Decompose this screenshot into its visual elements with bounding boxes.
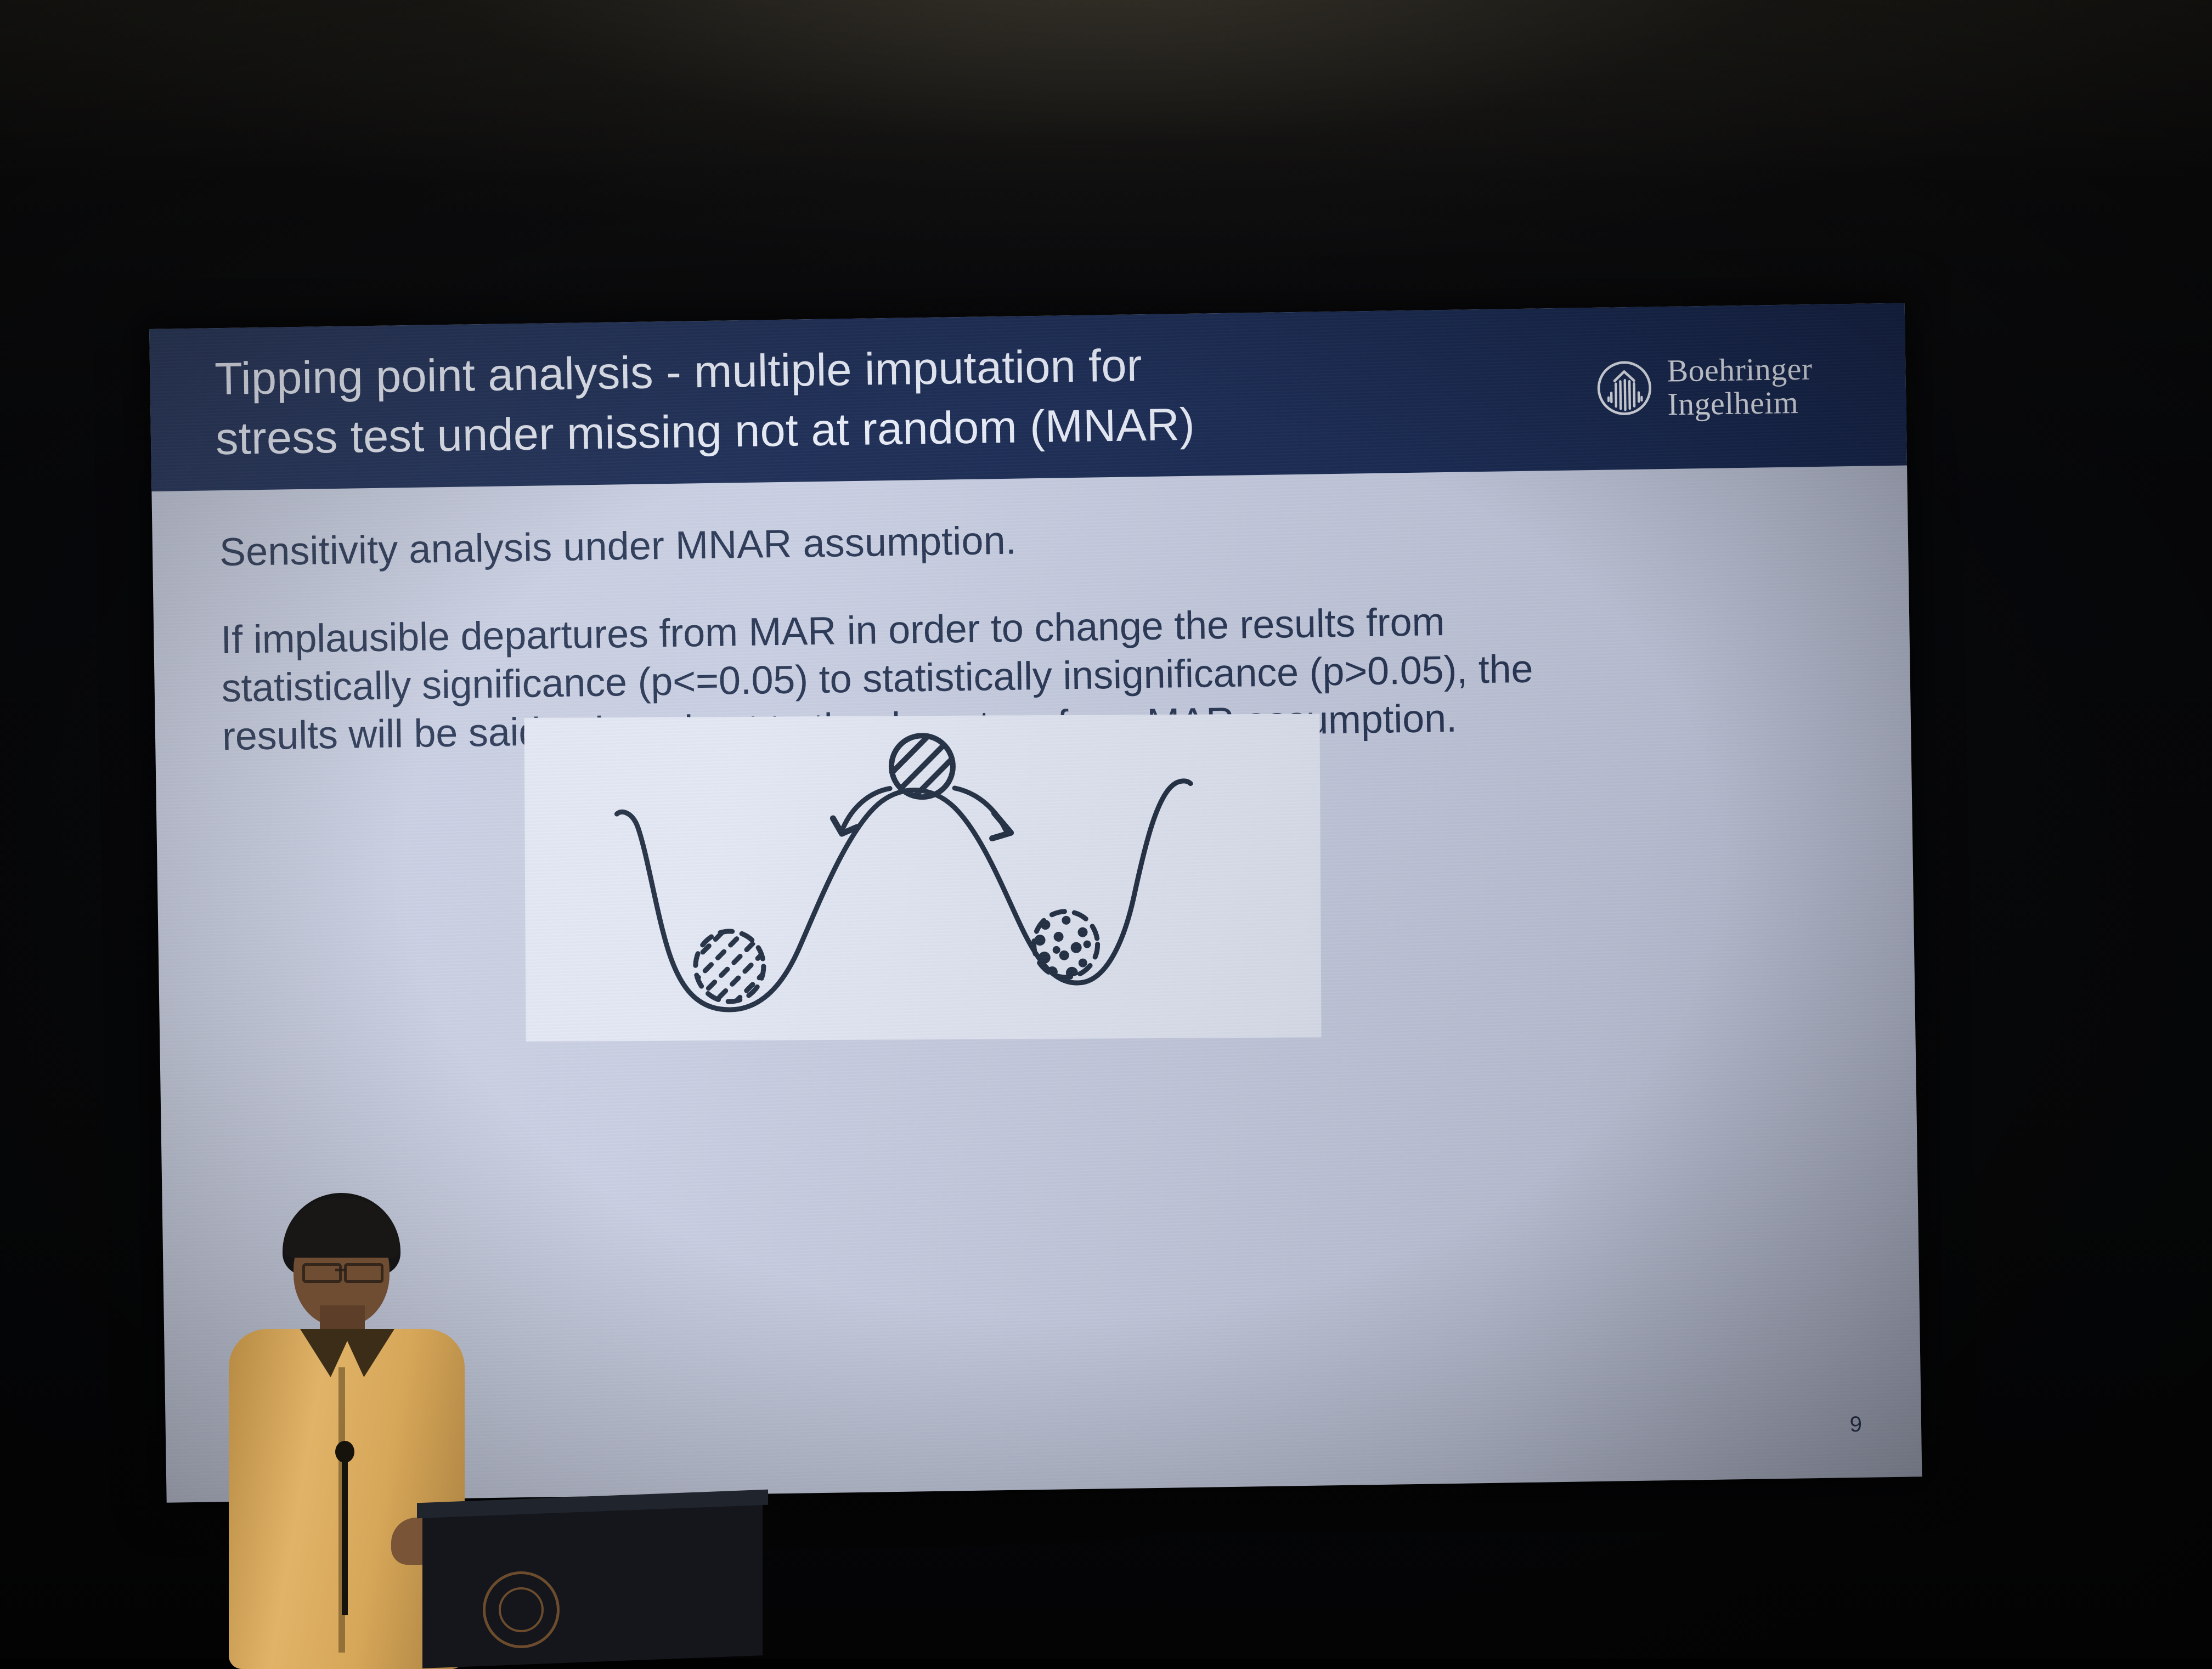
page-number: 9 [1849,1412,1862,1437]
brand-logo: Boehringer Ingelheim [1595,352,1813,423]
double-well-tipping-point-diagram [524,714,1321,1042]
slide-title: Tipping point analysis - multiple imputa… [150,335,1195,470]
curved-arrow-right [955,788,1011,839]
dotted-ball-in-right-well [1031,912,1098,980]
diagram-panel [524,714,1321,1042]
lead-sentence: Sensitivity analysis under MNAR assumpti… [219,518,1017,575]
podium [422,1496,763,1668]
presenter-hair-front [284,1198,400,1258]
presenter-glasses-left-lens [302,1263,342,1283]
boehringer-ingelheim-logo-mark-icon [1595,359,1654,417]
microphone-head-icon [335,1441,354,1463]
podium-emblem-icon [483,1571,560,1648]
brand-logo-line-2: Ingelheim [1667,386,1813,421]
presenter-glasses-bridge [335,1269,346,1271]
slide-header-band: Tipping point analysis - multiple imputa… [149,303,1907,491]
microphone-stem [342,1451,348,1615]
brand-logo-line-1: Boehringer [1667,352,1813,388]
presenter-glasses-right-lens [344,1263,383,1283]
striped-ball-at-tipping-point [884,731,964,829]
potential-curve [617,781,1192,1010]
brand-logo-wordmark: Boehringer Ingelheim [1667,352,1813,422]
